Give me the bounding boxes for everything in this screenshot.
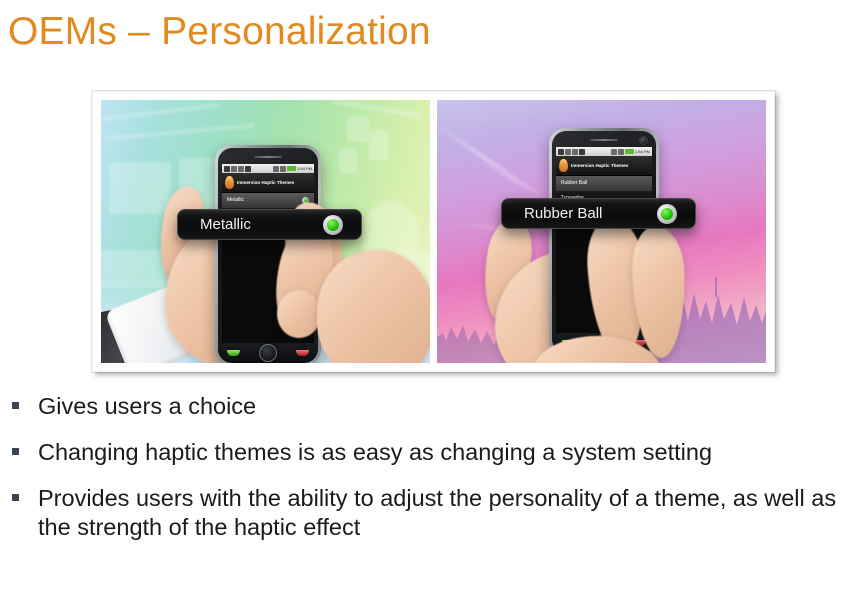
status-bar-clock: 1:54 PM — [635, 150, 650, 154]
callout-label: Metallic — [200, 216, 251, 233]
message-icon — [231, 166, 237, 172]
callout-metallic[interactable]: Metallic — [177, 209, 362, 240]
usb-icon — [572, 149, 578, 155]
haptic-flame-icon — [225, 176, 234, 189]
bullet-square-icon — [12, 494, 19, 501]
app-title: Immersion Haptic Themes — [237, 180, 294, 186]
ceiling-light-streak — [101, 103, 221, 122]
page-title: OEMs – Personalization — [8, 8, 431, 56]
sync-icon — [245, 166, 251, 172]
list-item: Changing haptic themes is as easy as cha… — [8, 438, 863, 467]
home-key-icon[interactable] — [259, 344, 277, 362]
signal-icon — [273, 166, 279, 172]
battery-icon — [625, 149, 634, 154]
bullet-text: Gives users a choice — [38, 392, 256, 421]
list-item: Gives users a choice — [8, 392, 863, 421]
message-icon — [565, 149, 571, 155]
callout-label: Rubber Ball — [524, 205, 602, 222]
app-header: Immersion Haptic Themes — [556, 156, 652, 176]
app-header: Immersion Haptic Themes — [222, 173, 314, 193]
office-window — [109, 162, 171, 214]
window-blinds — [369, 130, 389, 160]
right-hand-fingertip — [277, 290, 321, 338]
earpiece-speaker-icon — [590, 139, 618, 141]
photo-panel-concert: 1:54 PM Immersion Haptic Themes Rubber B… — [437, 100, 766, 363]
callout-radio-icon[interactable] — [657, 204, 677, 224]
status-bar-left-icons — [224, 166, 251, 172]
front-camera-icon — [639, 136, 648, 145]
figure-image-frame: 1:54 PM Immersion Haptic Themes Metallic — [92, 91, 775, 372]
status-bar-right-icons: 1:54 PM — [273, 166, 312, 172]
signal-icon — [611, 149, 617, 155]
end-call-key-icon[interactable] — [296, 350, 309, 356]
wifi-icon — [618, 149, 624, 155]
battery-icon — [287, 166, 296, 171]
theme-list-item[interactable]: Rubber Ball — [556, 176, 652, 191]
figure-inner: 1:54 PM Immersion Haptic Themes Metallic — [101, 100, 766, 363]
stage-light-beam — [472, 157, 552, 201]
bullet-list: Gives users a choice Changing haptic the… — [8, 392, 863, 559]
android-status-bar: 1:54 PM — [222, 164, 314, 173]
bullet-text: Provides users with the ability to adjus… — [38, 484, 863, 542]
status-bar-right-icons: 1:54 PM — [611, 149, 650, 155]
wifi-icon — [280, 166, 286, 172]
bullet-square-icon — [12, 402, 19, 409]
phone-top-bar — [554, 133, 654, 147]
callout-rubber-ball[interactable]: Rubber Ball — [501, 198, 696, 229]
haptic-flame-icon — [559, 159, 568, 172]
right-hand-palm — [317, 250, 430, 363]
sync-icon — [579, 149, 585, 155]
photo-panel-office: 1:54 PM Immersion Haptic Themes Metallic — [101, 100, 430, 363]
android-status-bar: 1:54 PM — [556, 147, 652, 156]
theme-label: Rubber Ball — [561, 180, 587, 186]
ceiling-light-streak — [331, 100, 421, 118]
earpiece-speaker-icon — [254, 156, 282, 158]
status-bar-clock: 1:54 PM — [297, 167, 312, 171]
notification-icon — [558, 149, 564, 155]
phone-hardware-keys — [218, 343, 318, 363]
bullet-text: Changing haptic themes is as easy as cha… — [38, 438, 712, 467]
list-item: Provides users with the ability to adjus… — [8, 484, 863, 542]
theme-label: Metallic — [227, 197, 244, 203]
app-title: Immersion Haptic Themes — [571, 163, 628, 169]
notification-icon — [224, 166, 230, 172]
status-bar-left-icons — [558, 149, 585, 155]
phone-top-bar — [220, 150, 316, 164]
ceiling-light-streak — [105, 123, 255, 140]
bullet-square-icon — [12, 448, 19, 455]
window-blinds — [339, 148, 357, 174]
window-blinds — [347, 116, 369, 142]
call-key-icon[interactable] — [227, 350, 240, 356]
callout-radio-icon[interactable] — [323, 215, 343, 235]
usb-icon — [238, 166, 244, 172]
